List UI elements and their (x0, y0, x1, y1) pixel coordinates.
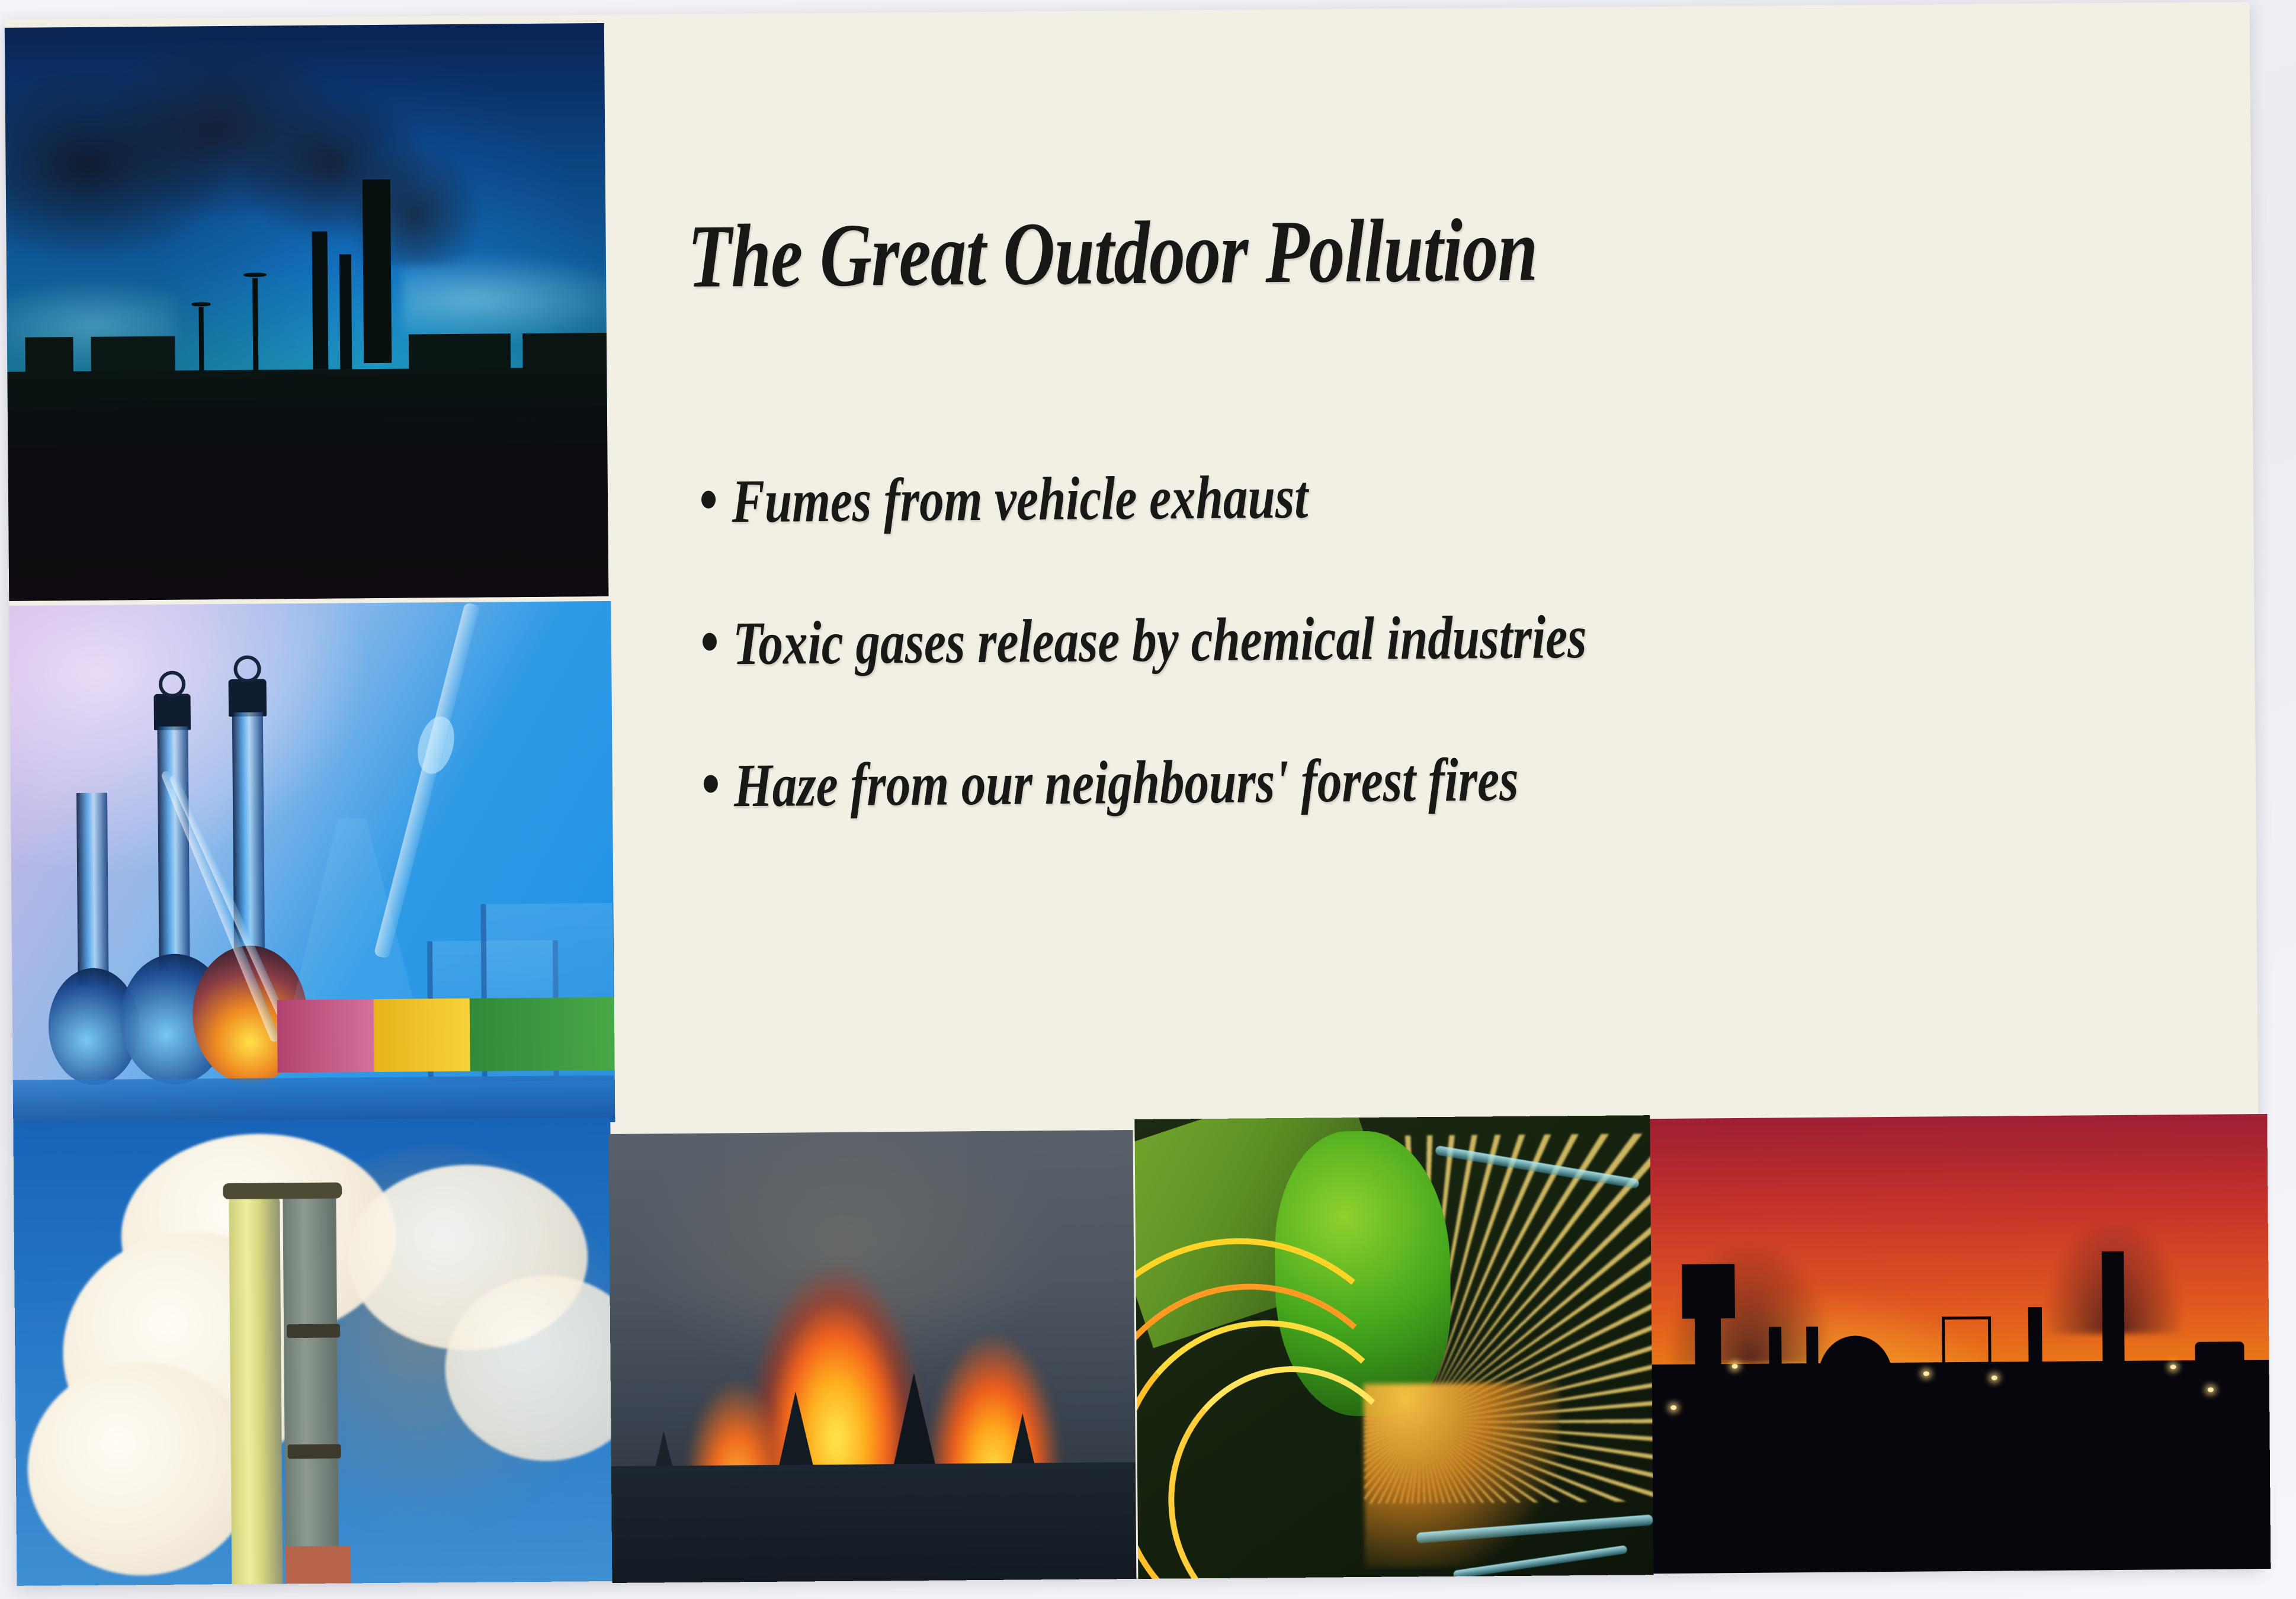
liquid-green (470, 997, 615, 1071)
plume-cloud-c (27, 1362, 256, 1576)
plant-light-c (1992, 1375, 1997, 1380)
pipette-long (373, 602, 480, 959)
chimney-base (286, 1546, 351, 1584)
bullet-text-2: Toxic gases release by chemical industri… (733, 603, 1587, 678)
sunset-skyline-mass (1652, 1360, 2271, 1574)
photo-smokestack-plume (13, 1118, 614, 1586)
flask-left-neck (76, 792, 108, 985)
chimney-band-a (287, 1324, 341, 1338)
flask-middle-stopper (154, 693, 191, 730)
photo-forest-fire (608, 1130, 1136, 1583)
screenshot-canvas: The Great Outdoor Pollution Fumes from v… (0, 0, 2296, 1599)
liquid-yellow (373, 998, 470, 1072)
pipette-bulb (412, 713, 460, 778)
bullet-item-1: Fumes from vehicle exhaust (701, 461, 1896, 534)
haze-right (402, 252, 609, 346)
bullet-dot-icon (703, 633, 717, 651)
bullet-dot-icon (704, 775, 718, 793)
bullet-text-3: Haze from our neighbours' forest fires (734, 746, 1519, 820)
bullet-item-2: Toxic gases release by chemical industri… (703, 603, 1897, 676)
plant-light-e (2208, 1388, 2214, 1392)
flask-right-stopper (229, 679, 267, 717)
foreground-ground (7, 367, 608, 601)
photo-refinery-sunset (1650, 1114, 2271, 1574)
chimney-rear (283, 1184, 339, 1584)
sunset-tower-head (1682, 1264, 1734, 1319)
photo-refinery-dusk (5, 23, 609, 601)
bullet-dot-icon (701, 491, 716, 509)
forest-ridge (611, 1462, 1137, 1583)
pollution-info-card: The Great Outdoor Pollution Fumes from v… (5, 2, 2262, 1586)
bullet-text-1: Fumes from vehicle exhaust (732, 463, 1309, 536)
bullet-list: Fumes from vehicle exhaust Toxic gases r… (701, 458, 2198, 897)
chimney-cap (223, 1182, 342, 1199)
photo-welding-sparks (1134, 1115, 1653, 1579)
chimney-band-b (287, 1444, 341, 1459)
text-column: The Great Outdoor Pollution Fumes from v… (633, 2, 2241, 1122)
bullet-item-3: Haze from our neighbours' forest fires (703, 745, 1898, 818)
flask-middle-neck (158, 726, 190, 970)
page-title: The Great Outdoor Pollution (687, 200, 1872, 304)
chimney-front (229, 1195, 283, 1584)
photo-lab-glassware (9, 601, 615, 1127)
liquid-magenta (277, 999, 374, 1073)
smoke-plume (5, 36, 510, 269)
